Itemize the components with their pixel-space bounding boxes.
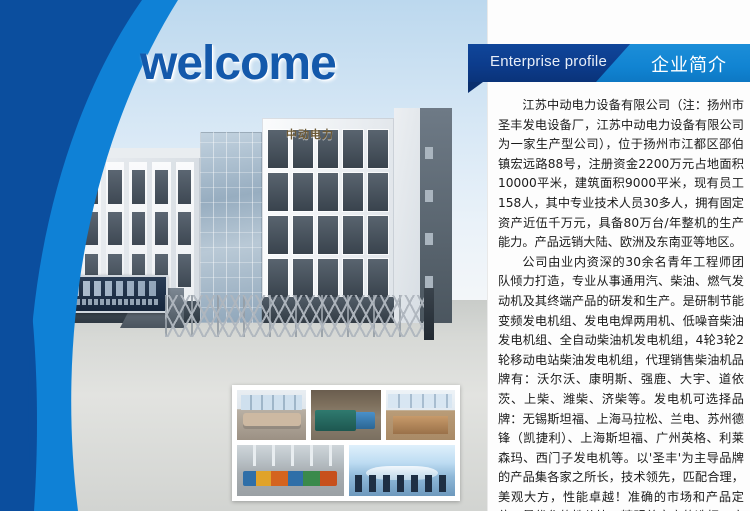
collage-row-top [236,389,456,441]
hero-section: 中动电力 welcome [0,0,487,511]
profile-panel-background: Enterprise profile 企业简介 江苏中动电力设备有限公司（注：扬… [487,0,750,511]
tab-chinese-label: 企业简介 [651,51,727,77]
welcome-heading: welcome [140,36,336,91]
profile-paragraph-1: 江苏中动电力设备有限公司（注：扬州市圣丰发电设备厂，江苏中动电力设备有限公司为一… [498,96,744,253]
profile-panel: Enterprise profile 企业简介 江苏中动电力设备有限公司（注：扬… [487,0,750,511]
photo-assembly-line [236,444,345,497]
photo-conference-room [348,444,457,497]
collage-row-bottom [236,444,456,497]
profile-body: 江苏中动电力设备有限公司（注：扬州市圣丰发电设备厂，江苏中动电力设备有限公司为一… [498,96,744,511]
tab-english-label: Enterprise profile [490,53,607,70]
profile-paragraph-2: 公司由业内资深的30余名青年工程师团队倾力打造，专业从事通用汽、柴油、燃气发动机… [498,253,744,511]
photo-collage [232,385,460,501]
section-header-tab: Enterprise profile 企业简介 [468,44,750,82]
company-profile-page: 中动电力 welcome [0,0,750,511]
photo-generator-workshop [310,389,381,441]
photo-open-office [385,389,456,441]
photo-office-meeting [236,389,307,441]
